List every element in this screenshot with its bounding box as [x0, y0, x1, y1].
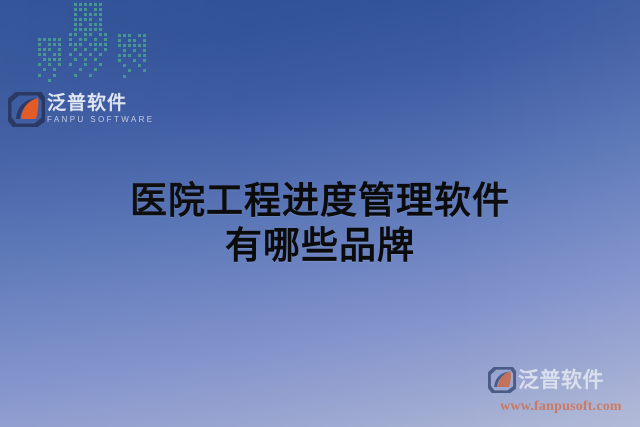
watermark-logo-mark-icon: [488, 367, 516, 393]
watermark-url: www.fanpusoft.com: [488, 398, 634, 415]
pixel-buildings-icon: [33, 0, 153, 86]
brand-name-cn: 泛普软件: [47, 93, 155, 114]
watermark-brand-row: 泛普软件: [488, 363, 634, 397]
page-title-line-2: 有哪些品牌: [0, 223, 640, 268]
fanpu-logo-mark-icon: [8, 92, 45, 127]
page-title: 医院工程进度管理软件 有哪些品牌: [0, 178, 640, 268]
brand-name-en: FANPU SOFTWARE: [47, 114, 155, 126]
page-title-line-1: 医院工程进度管理软件: [0, 178, 640, 223]
promo-banner: 泛普软件 FANPU SOFTWARE 医院工程进度管理软件 有哪些品牌 泛普软…: [0, 0, 640, 427]
watermark: 泛普软件 www.fanpusoft.com: [488, 363, 634, 419]
watermark-brand-name: 泛普软件: [518, 368, 604, 392]
brand-logo-text: 泛普软件 FANPU SOFTWARE: [47, 93, 155, 126]
brand-logo: 泛普软件 FANPU SOFTWARE: [8, 88, 160, 130]
